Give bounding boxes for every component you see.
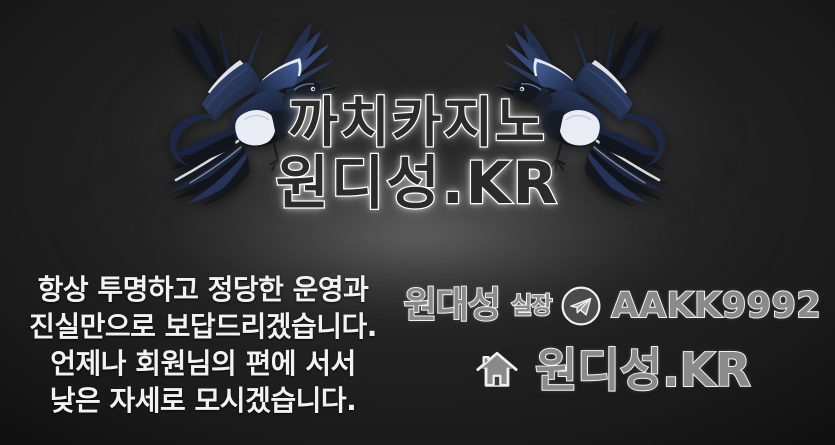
casino-promo-banner: 까치카지노 원디성.KR 항상 투명하고 정당한 운영과 진실만으로 보답드리겠… [0, 0, 835, 445]
brand-domain-line2: 원디성.KR [0, 154, 835, 212]
home-icon[interactable] [474, 349, 520, 391]
telegram-icon[interactable] [560, 285, 602, 327]
telegram-handle[interactable]: AAKK9992 [611, 289, 821, 324]
slogan-line-2: 진실만으로 보답드리겠습니다. [18, 309, 388, 346]
slogan-line-1: 항상 투명하고 정당한 운영과 [18, 272, 388, 309]
slogan-block: 항상 투명하고 정당한 운영과 진실만으로 보답드리겠습니다. 언제나 회원님의… [18, 272, 388, 420]
brand-logo: 까치카지노 원디성.KR [0, 96, 835, 212]
slogan-line-4: 낮은 자세로 모시겠습니다. [18, 383, 388, 420]
manager-title: 실장 [511, 295, 551, 318]
site-domain[interactable]: 원디성.KR [535, 347, 751, 393]
brand-name-line1: 까치카지노 [0, 96, 835, 150]
slogan-line-3: 언제나 회원님의 편에 서서 [18, 346, 388, 383]
manager-contact-row: 원대성 실장 AAKK9992 [400, 278, 825, 334]
contact-block: 원대성 실장 AAKK9992 원 [400, 278, 825, 404]
manager-name: 원대성 [404, 288, 500, 324]
domain-row: 원디성.KR [400, 336, 825, 404]
